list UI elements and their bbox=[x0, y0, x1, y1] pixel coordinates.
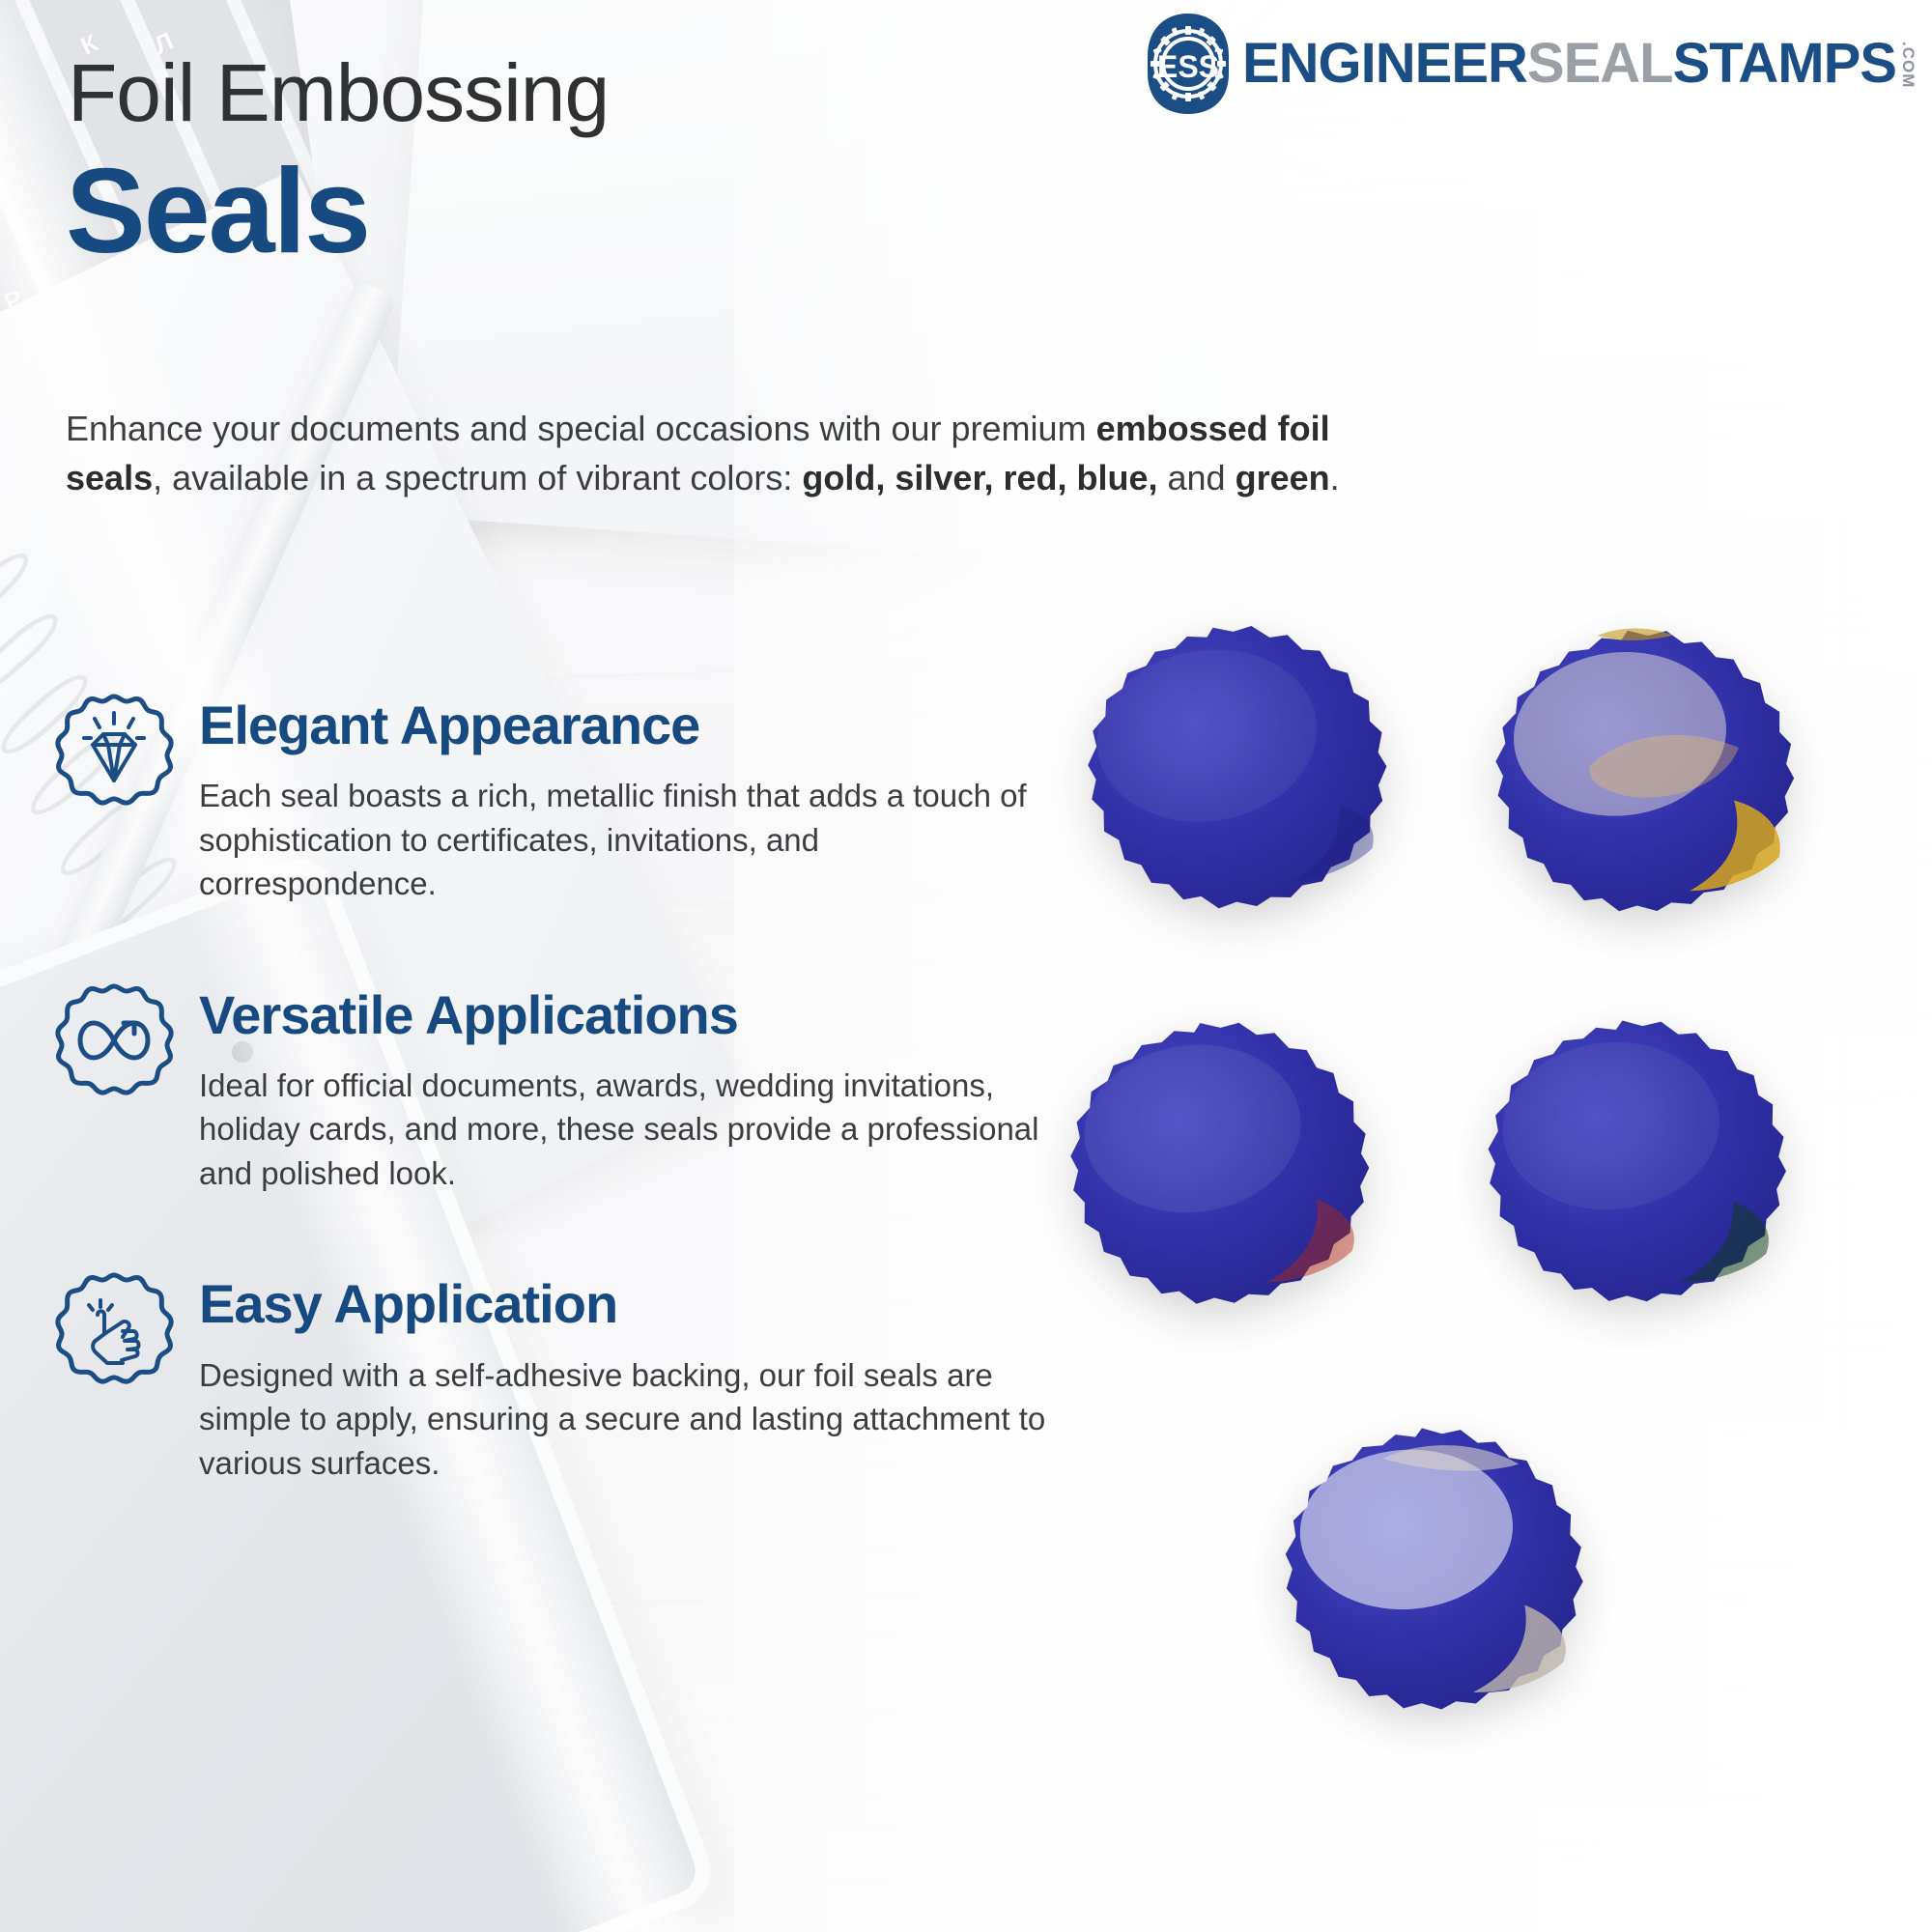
intro-paragraph: Enhance your documents and special occas… bbox=[66, 404, 1399, 502]
intro-bold-colors-1: gold, silver, red, blue, bbox=[802, 458, 1157, 497]
diamond-badge-icon bbox=[54, 692, 174, 811]
feature-title: Easy Application bbox=[199, 1276, 1078, 1331]
ess-gear-logo-icon: ESS bbox=[1144, 12, 1233, 116]
infinity-loop-badge-icon bbox=[54, 981, 174, 1101]
feature-body: Versatile Applications Ideal for officia… bbox=[199, 978, 1078, 1196]
feature-title: Elegant Appearance bbox=[199, 697, 1078, 753]
feature-body: Elegant Appearance Each seal boasts a ri… bbox=[199, 688, 1078, 906]
intro-text-2: , available in a spectrum of vibrant col… bbox=[153, 458, 802, 497]
feature-description: Designed with a self-adhesive backing, o… bbox=[199, 1353, 1049, 1486]
feature-description: Each seal boasts a rich, metallic finish… bbox=[199, 774, 1049, 906]
seal-sample-blue bbox=[1070, 618, 1399, 927]
infographic-canvas: Н Р В И К Л М Ь Д З Ж bbox=[0, 0, 1932, 1932]
intro-text-1: Enhance your documents and special occas… bbox=[66, 409, 1096, 448]
wordmark-engineer: ENGINEER bbox=[1242, 36, 1527, 92]
feature-title: Versatile Applications bbox=[199, 987, 1078, 1042]
feature-description: Ideal for official documents, awards, we… bbox=[199, 1064, 1049, 1196]
intro-bold-green: green bbox=[1236, 458, 1330, 497]
feature-item-versatile-applications: Versatile Applications Ideal for officia… bbox=[54, 978, 1078, 1196]
brand-logo[interactable]: ESS ENGINEERSEALSTAMPS.COM bbox=[1144, 12, 1917, 116]
intro-text-3: and bbox=[1158, 458, 1236, 497]
wordmark-seal: SEAL bbox=[1527, 36, 1673, 92]
tapping-hand-badge-icon bbox=[54, 1270, 174, 1390]
wordmark-stamps: STAMPS bbox=[1673, 36, 1896, 92]
feature-list: Elegant Appearance Each seal boasts a ri… bbox=[54, 688, 1078, 1556]
intro-text-4: . bbox=[1330, 458, 1340, 497]
page-title-line1: Foil Embossing bbox=[68, 46, 609, 140]
seal-sample-gold bbox=[1478, 622, 1806, 931]
seal-sample-silver bbox=[1267, 1420, 1596, 1729]
feature-item-easy-application: Easy Application Designed with a self-ad… bbox=[54, 1266, 1078, 1485]
brand-wordmark: ENGINEERSEALSTAMPS.COM bbox=[1242, 36, 1917, 92]
svg-text:ESS: ESS bbox=[1157, 49, 1219, 84]
seal-samples-gallery bbox=[1053, 609, 1932, 1884]
seal-sample-red bbox=[1053, 1014, 1381, 1323]
seal-sample-green bbox=[1470, 1012, 1799, 1321]
wordmark-tld: .COM bbox=[1900, 42, 1917, 88]
feature-body: Easy Application Designed with a self-ad… bbox=[199, 1266, 1078, 1485]
feature-item-elegant-appearance: Elegant Appearance Each seal boasts a ri… bbox=[54, 688, 1078, 906]
page-title-line2: Seals bbox=[66, 143, 369, 280]
